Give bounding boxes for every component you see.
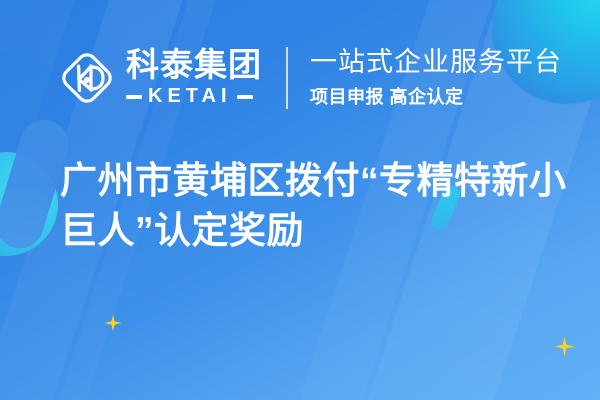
logo-company-name-en-row: KETAI (126, 85, 262, 108)
sparkle-star-icon (555, 337, 574, 356)
logo-rule-right (237, 95, 253, 99)
slogan-block: 一站式企业服务平台 项目申报 高企认定 (310, 45, 562, 111)
slogan-main-text: 一站式企业服务平台 (310, 47, 562, 77)
logo-company-name-en: KETAI (148, 85, 232, 108)
logo-company-name-cn: 科泰集团 (126, 48, 262, 83)
promo-banner: 科泰集团 KETAI 一站式企业服务平台 项目申报 高企认定 广州市黄埔区拨付“… (0, 0, 600, 400)
logo-wordmark: 科泰集团 KETAI (126, 47, 262, 109)
brand-header: 科泰集团 KETAI 一站式企业服务平台 项目申报 高企认定 (58, 40, 562, 116)
logo-rule-left (126, 95, 142, 99)
sparkle-star-icon (105, 315, 121, 331)
vertical-divider (286, 47, 288, 109)
kd-diamond-monogram-icon (58, 49, 116, 107)
slogan-sub-text: 项目申报 高企认定 (310, 83, 562, 109)
page-title: 广州市黄埔区拨付“专精特新小巨人”认定奖励 (60, 156, 575, 255)
